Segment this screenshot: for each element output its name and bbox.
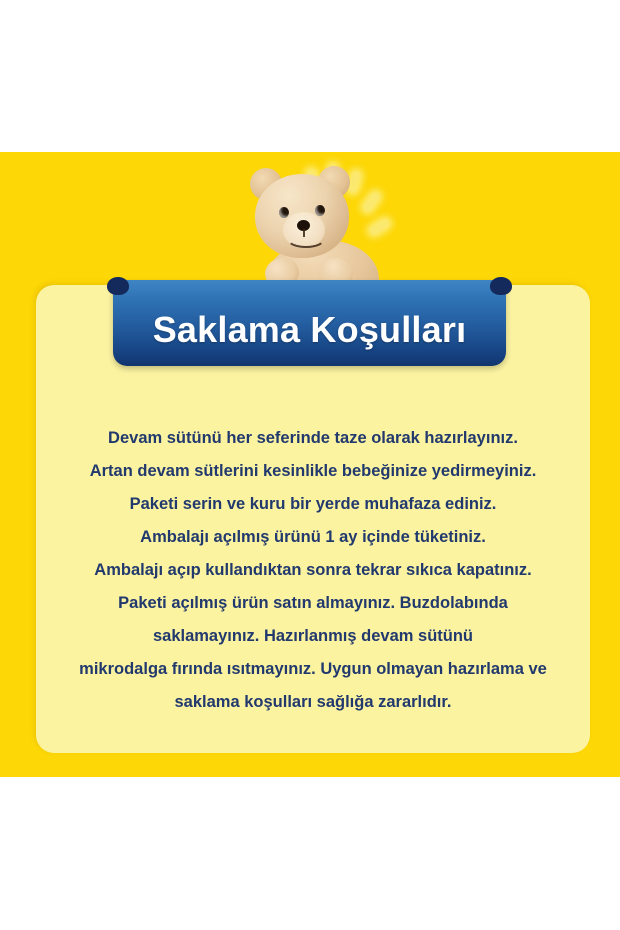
- banner-notch-right: [490, 277, 512, 295]
- bear-head: [255, 174, 349, 258]
- instruction-line-7: saklamayınız. Hazırlanmış devam sütünü: [36, 620, 590, 653]
- title-banner: Saklama Koşulları: [113, 280, 506, 366]
- banner-notch-left: [107, 277, 129, 295]
- sparkle-dash: [369, 219, 390, 236]
- instruction-line-2: Artan devam sütlerini kesinlikle bebeğin…: [36, 455, 590, 488]
- sparkle-dash: [349, 171, 361, 192]
- instruction-line-8: mikrodalga fırında ısıtmayınız. Uygun ol…: [36, 653, 590, 686]
- storage-instructions-list: Devam sütünü her seferinde taze olarak h…: [36, 422, 590, 719]
- sparkle-dash: [363, 192, 380, 212]
- instruction-line-1: Devam sütünü her seferinde taze olarak h…: [36, 422, 590, 455]
- page-title: Saklama Koşulları: [153, 298, 467, 348]
- instruction-line-5: Ambalajı açıp kullandıktan sonra tekrar …: [36, 554, 590, 587]
- instruction-line-4: Ambalajı açılmış ürünü 1 ay içinde tüket…: [36, 521, 590, 554]
- bear-eye-left: [279, 207, 289, 218]
- instruction-line-3: Paketi serin ve kuru bir yerde muhafaza …: [36, 488, 590, 521]
- teddy-bear-mascot: [243, 160, 413, 290]
- instruction-line-9: saklama koşulları sağlığa zararlıdır.: [36, 686, 590, 719]
- bear-mouth: [286, 228, 326, 248]
- bear-eye-right: [315, 205, 325, 216]
- page-root: Saklama Koşulları Devam sütünü her sefer…: [0, 0, 620, 930]
- instruction-line-6: Paketi açılmış ürün satın almayınız. Buz…: [36, 587, 590, 620]
